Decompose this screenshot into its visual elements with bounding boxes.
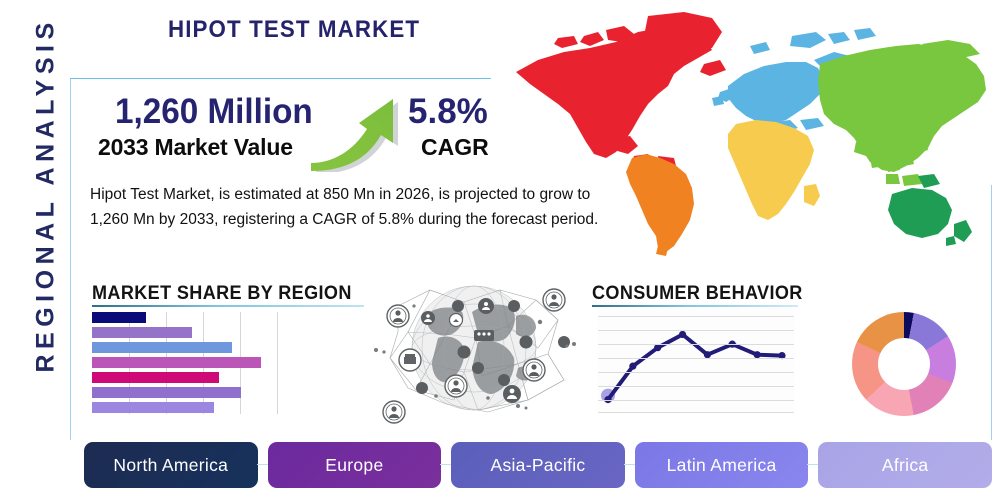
region-pill-europe[interactable]: Europe	[268, 442, 442, 488]
cagr-value: 5.8%	[408, 92, 488, 132]
frame-top-border	[70, 78, 491, 79]
table-row	[92, 372, 219, 383]
growth-arrow-icon	[305, 88, 415, 172]
region-pill-label: Asia-Pacific	[490, 455, 585, 476]
pill-connector	[257, 464, 269, 465]
region-pill-north-america[interactable]: North America	[84, 442, 258, 488]
table-row	[92, 357, 261, 368]
market-value: 1,260 Million	[115, 92, 313, 132]
table-row	[92, 342, 232, 353]
table-row	[92, 327, 192, 338]
region-pill-label: Latin America	[667, 455, 777, 476]
world-map-icon	[498, 8, 994, 258]
region-pill-asia-pacific[interactable]: Asia-Pacific	[451, 442, 625, 488]
global-network-icon	[368, 272, 580, 424]
market-value-caption: 2033 Market Value	[98, 134, 293, 161]
cagr-caption: CAGR	[421, 134, 489, 161]
region-pill-label: Europe	[325, 455, 383, 476]
donut-hole	[878, 338, 930, 390]
region-pill-label: North America	[113, 455, 228, 476]
table-row	[92, 312, 146, 323]
infographic-root: REGIONAL ANALYSIS HIPOT TEST MARKET 1,26…	[0, 0, 1000, 500]
section-rule-market-share	[92, 305, 364, 307]
frame-left-border	[70, 78, 71, 440]
line-chart-gridlines	[598, 308, 794, 414]
section-rule-consumer-behavior	[592, 305, 798, 307]
market-share-bar-chart	[92, 312, 278, 414]
pill-connector	[624, 464, 636, 465]
page-title: HIPOT TEST MARKET	[168, 16, 420, 44]
section-title-consumer-behavior: CONSUMER BEHAVIOR	[592, 283, 803, 305]
vertical-section-label: REGIONAL ANALYSIS	[32, 33, 61, 373]
region-pill-africa[interactable]: Africa	[818, 442, 992, 488]
consumer-behavior-line-chart	[598, 308, 794, 414]
donut-chart	[852, 312, 956, 416]
section-title-market-share: MARKET SHARE BY REGION	[92, 283, 352, 305]
region-pill-bar: North AmericaEuropeAsia-PacificLatin Ame…	[84, 442, 992, 488]
table-row	[92, 402, 214, 413]
table-row	[92, 387, 241, 398]
region-pill-latin-america[interactable]: Latin America	[635, 442, 809, 488]
region-pill-label: Africa	[882, 455, 929, 476]
hero-stats: 1,260 Million 2033 Market Value 5.8% CAG…	[90, 92, 510, 172]
